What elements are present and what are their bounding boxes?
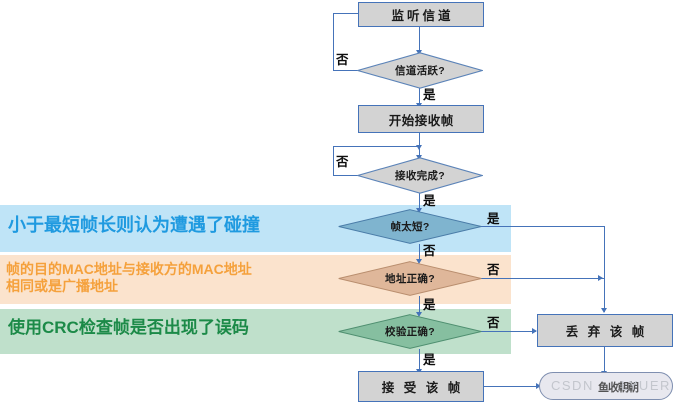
node-discard-frame-label: 丢 弃 该 帧: [563, 321, 647, 340]
edge-done-no-v: [333, 146, 334, 176]
node-channel-active-label: 信道活跃?: [357, 52, 483, 89]
node-accept-frame-label: 接 受 该 帧: [379, 377, 463, 396]
edge-done-no-h2: [333, 146, 419, 147]
flowchart-canvas: 小于最短帧长则认为遭遇了碰撞 帧的目的MAC地址与接收方的MAC地址 相同或是广…: [0, 0, 681, 405]
edge-label-tooshort-yes: 是: [487, 208, 500, 227]
node-start-receive-label: 开始接收帧: [388, 110, 454, 129]
annotation-text-mac-address: 帧的目的MAC地址与接收方的MAC地址 相同或是广播地址: [6, 261, 252, 295]
edge-active-no-v: [333, 13, 334, 71]
edge-addr-no-h: [481, 278, 605, 279]
node-receive-done[interactable]: 接收完成?: [357, 157, 483, 194]
edge-label-done-no: 否: [336, 151, 349, 170]
node-discard-frame[interactable]: 丢 弃 该 帧: [537, 314, 673, 347]
annotation-text-crc-check: 使用CRC检查帧是否出现了误码: [8, 318, 249, 339]
watermark-csdn: CSDN: [551, 378, 594, 393]
node-crc-correct-label: 校验正确?: [338, 314, 482, 349]
node-address-correct-label: 地址正确?: [338, 261, 482, 296]
node-listen-channel-label: 监听信道: [388, 5, 453, 24]
node-start-receive[interactable]: 开始接收帧: [358, 105, 484, 133]
edge-discard-to-end: [604, 347, 605, 373]
edge-label-crc-yes: 是: [423, 349, 436, 368]
edge-tooshort-yes-h: [481, 226, 605, 227]
node-receive-done-label: 接收完成?: [357, 157, 483, 194]
node-channel-active[interactable]: 信道活跃?: [357, 52, 483, 89]
arrowhead-addr-no: [598, 275, 603, 281]
arrowhead-tooshort-yes: [601, 308, 607, 313]
node-frame-too-short-label: 帧太短?: [338, 209, 482, 244]
edge-label-addr-yes: 是: [423, 294, 436, 313]
edge-crc-yes: [419, 349, 420, 371]
edge-accept-to-end: [483, 386, 539, 387]
watermark-csdn-text: CSDN: [551, 378, 594, 393]
node-address-correct[interactable]: 地址正确?: [338, 261, 482, 296]
edge-tooshort-yes-v: [604, 226, 605, 312]
watermark-suffix-text: LYUER: [621, 378, 671, 393]
edge-label-crc-no: 否: [487, 312, 500, 331]
edge-crc-no-h: [481, 331, 536, 332]
node-frame-too-short[interactable]: 帧太短?: [338, 209, 482, 244]
edge-label-active-no: 否: [336, 49, 349, 68]
node-accept-frame[interactable]: 接 受 该 帧: [358, 371, 484, 402]
edge-label-addr-no: 否: [487, 259, 500, 278]
node-crc-correct[interactable]: 校验正确?: [338, 314, 482, 349]
node-listen-channel[interactable]: 监听信道: [358, 2, 484, 27]
edge-listen-to-active: [419, 27, 420, 52]
annotation-text-too-short: 小于最短帧长则认为遭遇了碰撞: [8, 215, 260, 237]
watermark-suffix: LYUER: [621, 378, 671, 393]
arrowhead-done-no: [416, 145, 422, 150]
